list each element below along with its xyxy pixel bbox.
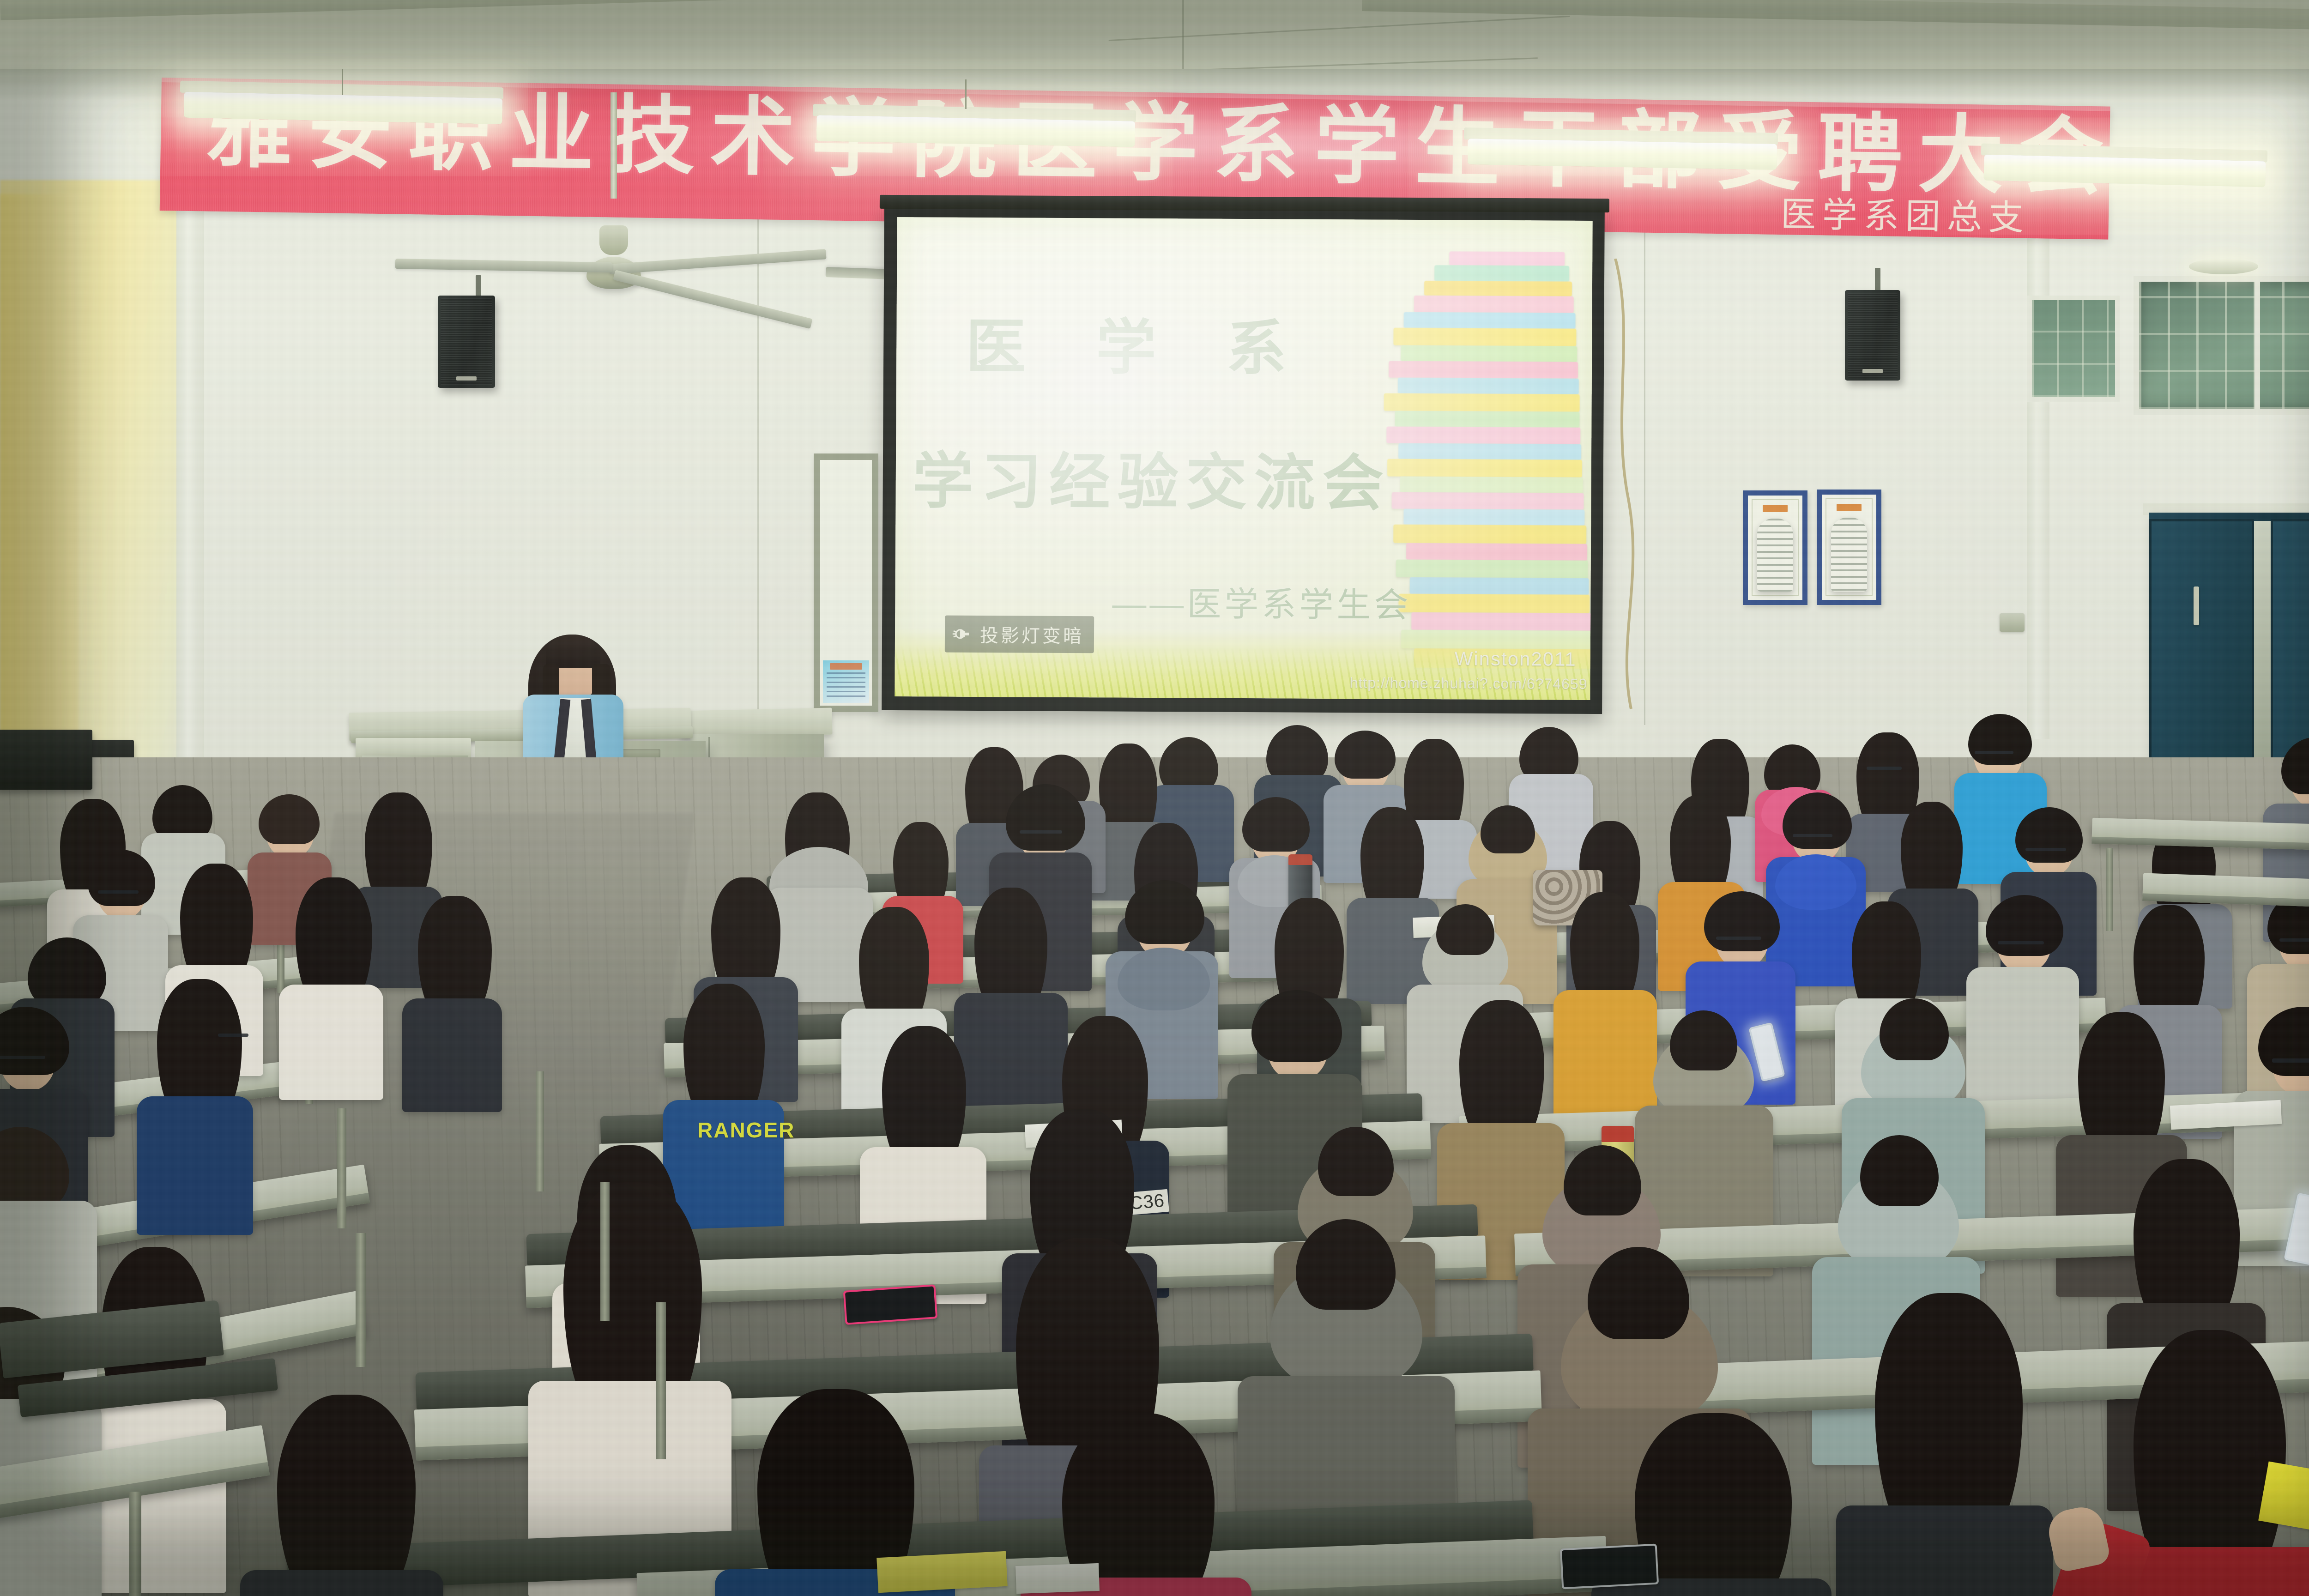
wall-pilaster <box>176 118 204 774</box>
book <box>1449 251 1565 266</box>
hair <box>1459 1000 1544 1139</box>
speaker-brand-label <box>456 376 477 381</box>
window-mullion <box>2255 282 2260 409</box>
glasses <box>1975 751 2013 754</box>
book <box>1401 630 1592 649</box>
teacher-desk-top <box>679 708 832 738</box>
paper-sheet <box>1015 1563 1100 1594</box>
torso <box>137 1096 253 1235</box>
notice-inner <box>1825 498 1873 596</box>
torso <box>402 998 502 1112</box>
hair <box>157 979 242 1116</box>
phone-screen <box>845 1286 936 1323</box>
board-poster <box>823 660 869 703</box>
notice-text-lines <box>1757 519 1793 592</box>
notice-title-bar <box>1837 504 1862 511</box>
notice-title-bar <box>1763 505 1788 512</box>
light-hanger-wire <box>965 79 967 109</box>
hair <box>2078 1012 2165 1153</box>
book <box>1411 612 1591 631</box>
projector-lamp-icon <box>952 627 973 641</box>
torso <box>1836 1505 2053 1596</box>
notice-inner <box>1752 499 1799 596</box>
hair <box>882 1026 966 1165</box>
hair <box>180 864 253 981</box>
hair <box>1360 807 1424 912</box>
hair <box>1570 892 1639 1005</box>
glasses <box>1998 941 2044 944</box>
book <box>1398 594 1590 613</box>
light-hanger-wire <box>342 69 343 95</box>
jacket-ranger-text: RANGER <box>697 1118 795 1143</box>
book <box>1398 443 1581 460</box>
book <box>1414 296 1574 313</box>
desk-leg <box>356 1233 366 1367</box>
glasses <box>2272 1058 2309 1063</box>
glasses <box>2279 938 2309 942</box>
torso <box>1553 990 1657 1119</box>
hair <box>974 888 1047 1009</box>
slide-grass-graphic <box>895 627 1590 700</box>
glasses <box>2025 848 2066 851</box>
projected-slide: 医 学 系 学习经验交流会 ——医学系学生会 投影灯变暗 Winston2011… <box>895 217 1592 700</box>
book <box>1401 345 1577 362</box>
wall-warm-light-core <box>0 194 79 739</box>
hair <box>1635 1413 1792 1596</box>
smartphone-pink-case[interactable] <box>843 1284 938 1325</box>
projector-cable <box>1607 259 1662 711</box>
book <box>1393 525 1586 544</box>
glasses <box>98 890 139 894</box>
projection-screen: 医 学 系 学习经验交流会 ——医学系学生会 投影灯变暗 Winston2011… <box>882 207 1605 714</box>
desk-leg <box>129 1492 141 1596</box>
desk-leg <box>337 1108 346 1228</box>
projector-lamp-status-text: 投影灯变暗 <box>980 621 1084 648</box>
hair <box>2134 1330 2286 1579</box>
smartphone[interactable] <box>1560 1544 1659 1590</box>
slide-byline: ——医学系学生会 <box>1112 576 1412 627</box>
glasses <box>218 1034 248 1037</box>
hair <box>296 877 372 1000</box>
speaker-grill <box>1848 293 1898 378</box>
glasses <box>1716 937 1761 940</box>
board-poster-text-lines <box>827 672 865 700</box>
book <box>1424 281 1572 296</box>
hair <box>277 1395 416 1596</box>
book <box>1406 543 1587 561</box>
book <box>1400 477 1583 493</box>
ceiling-fan-rod <box>610 92 617 199</box>
phone-screen <box>1562 1546 1657 1587</box>
safety-notice-right <box>1817 490 1881 605</box>
thermos-cap <box>1602 1126 1634 1142</box>
lecture-hall-photo: 雅安职业技术学院医学系学生干部受聘大会 医学系团总支 <box>0 0 2309 1596</box>
projector-lamp-status-badge: 投影灯变暗 <box>945 616 1094 653</box>
torso <box>240 1570 443 1596</box>
desk-leg <box>2106 848 2113 931</box>
hair <box>859 907 929 1022</box>
wall-speaker-left <box>438 296 495 388</box>
hair <box>1901 802 1963 901</box>
slide-subtitle: 学习经验交流会 <box>912 432 1391 522</box>
book <box>1414 648 1593 669</box>
window-grid <box>2139 282 2309 409</box>
board-poster-header <box>830 663 862 670</box>
book <box>1398 378 1579 394</box>
book <box>1395 411 1579 428</box>
desk-leg <box>600 1182 610 1321</box>
book <box>1389 361 1578 379</box>
desk-leg <box>536 1071 544 1191</box>
corridor-ceiling-light <box>2189 259 2258 274</box>
bottle-cap <box>1288 854 1312 865</box>
glasses <box>0 1056 45 1059</box>
hair <box>683 984 765 1118</box>
glasses <box>1020 830 1062 834</box>
book <box>1434 265 1569 282</box>
fluorescent-tube[interactable] <box>1468 139 1777 170</box>
banner-subline: 医学系团总支 <box>1780 186 2031 240</box>
hair <box>1875 1293 2023 1538</box>
window-grid <box>2032 300 2115 397</box>
book <box>1403 509 1584 526</box>
book <box>1409 577 1589 595</box>
wall-notice-board <box>814 453 878 712</box>
wall-fixture-mark <box>2000 613 2025 632</box>
slide-watermark-url: http://home.zhuhai?.com/6?74659 <box>1349 674 1587 693</box>
book <box>1384 393 1580 412</box>
ceiling-fan-canopy <box>599 225 628 255</box>
glasses <box>1793 834 1832 837</box>
hair <box>2134 905 2205 1020</box>
speaker-grill <box>441 298 492 385</box>
hair <box>1670 795 1731 896</box>
book <box>1396 560 1588 578</box>
hair <box>1852 901 1921 1013</box>
torso <box>1966 967 2079 1110</box>
book <box>1386 427 1580 444</box>
book <box>1391 492 1584 510</box>
hair <box>2134 1159 2240 1324</box>
wall-speaker-right <box>1845 290 1900 381</box>
glasses <box>1867 767 1902 770</box>
desk-leg <box>656 1302 666 1459</box>
notebook <box>876 1551 1008 1593</box>
slide-watermark: Winston2011 <box>1455 647 1577 670</box>
wall-seam <box>757 217 759 762</box>
safety-notice-left <box>1743 490 1807 605</box>
rear-monitor <box>0 730 92 790</box>
hair <box>365 792 432 901</box>
book <box>1387 459 1582 478</box>
book <box>1404 312 1576 329</box>
transom-window <box>2134 276 2309 415</box>
slide-title: 医 学 系 <box>966 298 1313 387</box>
hair <box>711 877 780 993</box>
slide-books-graphic <box>1382 248 1588 700</box>
corridor-window <box>2027 296 2120 402</box>
door-handle-left[interactable] <box>2194 586 2199 625</box>
torso <box>279 985 383 1100</box>
notice-text-lines <box>1831 518 1867 592</box>
hair <box>563 1182 702 1413</box>
speaker-brand-label <box>1862 369 1883 373</box>
book <box>1393 328 1576 346</box>
hair <box>418 896 492 1013</box>
